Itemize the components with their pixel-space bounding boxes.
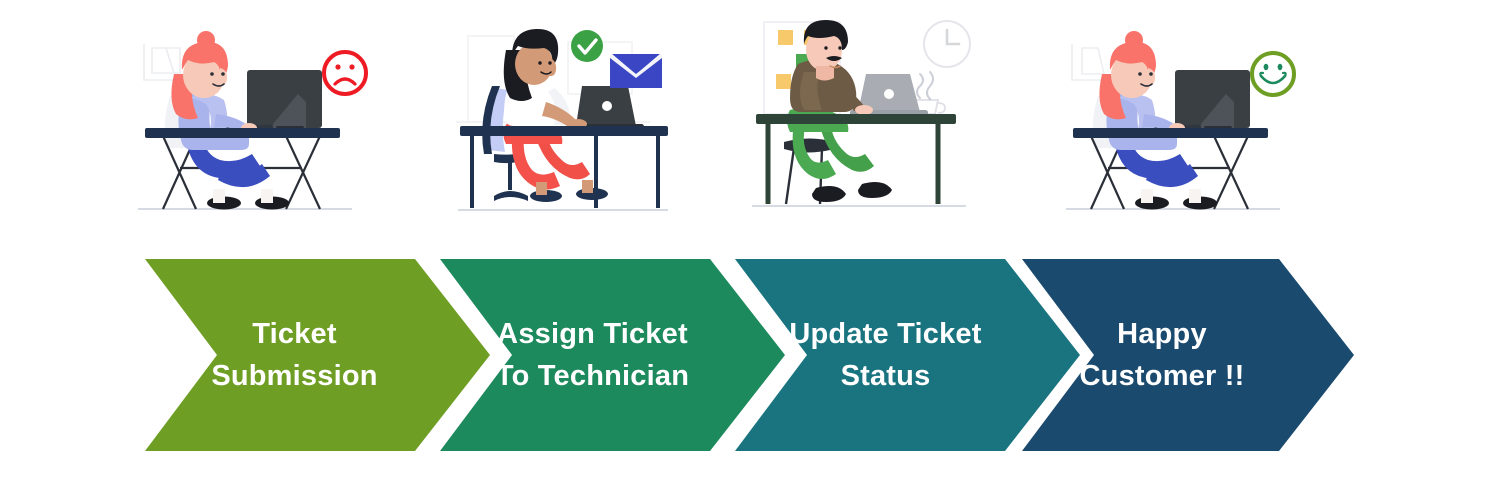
illustration-happy-customer-at-desktop <box>1058 18 1308 230</box>
chevron-shape-1 <box>145 259 490 451</box>
desk-top <box>1073 128 1268 138</box>
illustration-sad-customer-at-desktop <box>130 18 380 230</box>
desk-top <box>460 126 668 136</box>
illustration-technician-at-laptop <box>450 18 700 230</box>
steam <box>917 72 933 99</box>
sad-face-icon <box>324 52 366 94</box>
infographic-stage: Ticket Submission Assign Ticket To Techn… <box>0 0 1500 500</box>
shoe-left <box>812 186 846 202</box>
person-neck <box>816 66 834 81</box>
process-step-happy-customer[interactable]: Happy Customer !! <box>1022 259 1354 451</box>
check-circle-icon <box>571 30 603 62</box>
shoe-right <box>858 182 892 198</box>
process-step-ticket-submission[interactable]: Ticket Submission <box>145 259 490 451</box>
chevron-shape-2 <box>440 259 785 451</box>
person-hair-bun <box>197 31 215 49</box>
illustration-support-agent-at-laptop <box>748 18 998 230</box>
illustration-row <box>0 0 1500 245</box>
chevron-shape-4 <box>1022 259 1354 451</box>
desktop-monitor <box>1175 70 1250 132</box>
clock-icon <box>924 21 970 67</box>
smiley-face-icon <box>1252 53 1294 95</box>
desk-top <box>145 128 340 138</box>
process-chevron-band: Ticket Submission Assign Ticket To Techn… <box>0 255 1500 460</box>
desktop-monitor <box>247 70 322 132</box>
person-hair-bun <box>1125 31 1143 49</box>
process-step-assign-ticket-to-technician[interactable]: Assign Ticket To Technician <box>440 259 785 451</box>
envelope-icon <box>610 54 662 88</box>
desk-top <box>756 114 956 124</box>
